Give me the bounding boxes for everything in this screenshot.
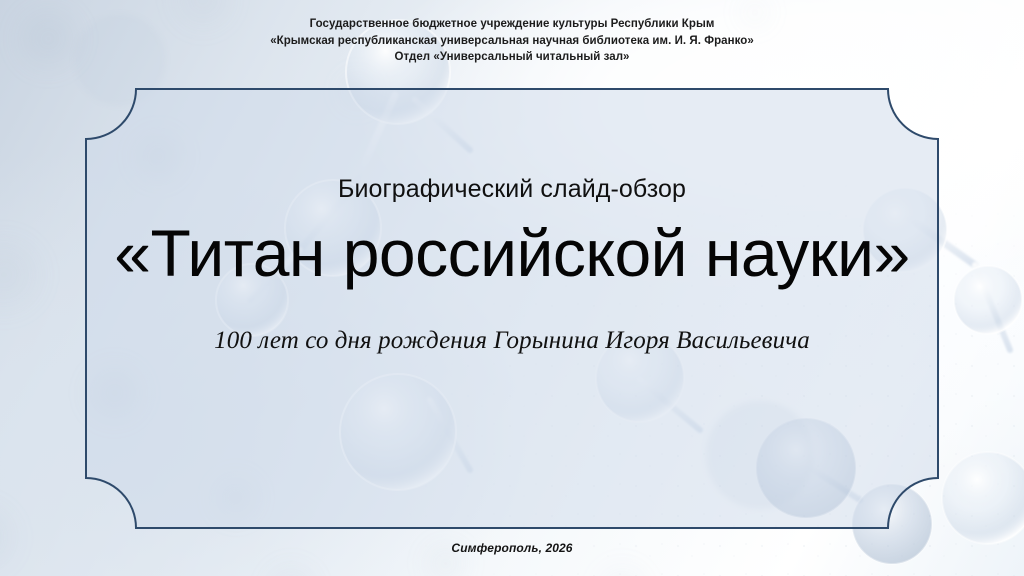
footer-place-year: Симферополь, 2026	[0, 540, 1024, 556]
slide-subtitle: 100 лет со дня рождения Горынина Игоря В…	[0, 325, 1024, 357]
presentation-slide: Государственное бюджетное учреждение кул…	[0, 0, 1024, 576]
page-title: «Титан российской науки»	[0, 214, 1024, 292]
organization-header: Государственное бюджетное учреждение кул…	[0, 16, 1024, 66]
slide-kicker: Биографический слайд-обзор	[0, 174, 1024, 204]
organization-line-1: Государственное бюджетное учреждение кул…	[0, 16, 1024, 33]
organization-line-3: Отдел «Универсальный читальный зал»	[0, 49, 1024, 66]
organization-line-2: «Крымская республиканская универсальная …	[0, 33, 1024, 50]
decorative-frame	[86, 89, 938, 528]
